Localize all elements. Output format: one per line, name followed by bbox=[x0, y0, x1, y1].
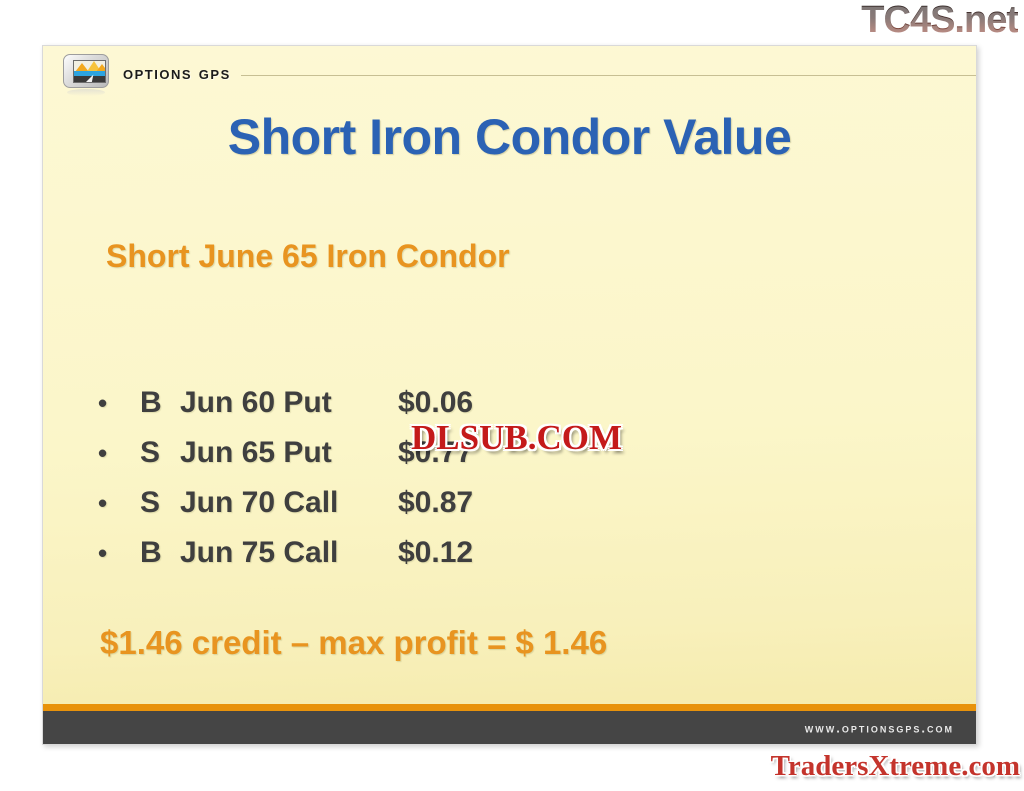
device-screen bbox=[73, 60, 106, 83]
list-item: • B Jun 75 Call $0.12 bbox=[98, 536, 473, 586]
bullet-marker: • bbox=[98, 540, 140, 566]
logo-reflection bbox=[67, 89, 105, 96]
leg-contract: Jun 60 Put bbox=[180, 386, 398, 420]
presentation-slide: Options GPS Short Iron Condor Value Shor… bbox=[42, 45, 977, 745]
tc4s-watermark: TC4S.net bbox=[861, 0, 1018, 42]
tradersxtreme-watermark: TradersXtreme.com bbox=[771, 750, 1020, 783]
leg-price: $0.06 bbox=[398, 386, 473, 420]
leg-contract: Jun 70 Call bbox=[180, 486, 398, 520]
dlsub-watermark: DLSUB.COM bbox=[411, 418, 622, 458]
leg-price: $0.87 bbox=[398, 486, 473, 520]
brand-wordmark: Options GPS bbox=[123, 63, 231, 85]
slide-header: Options GPS bbox=[43, 46, 976, 101]
credit-summary: $1.46 credit – max profit = $ 1.46 bbox=[100, 624, 607, 662]
leg-side: B bbox=[140, 386, 180, 420]
gps-device-icon bbox=[61, 53, 111, 95]
bullet-marker: • bbox=[98, 390, 140, 416]
leg-contract: Jun 75 Call bbox=[180, 536, 398, 570]
leg-price: $0.12 bbox=[398, 536, 473, 570]
footer-accent-stripe bbox=[43, 704, 976, 711]
subhead: Short June 65 Iron Condor bbox=[106, 238, 510, 275]
leg-list: • B Jun 60 Put $0.06 • S Jun 65 Put $0.7… bbox=[98, 386, 473, 586]
footer-website: www.OptionsGPS.com bbox=[805, 720, 954, 735]
page-title: Short Iron Condor Value bbox=[43, 108, 976, 166]
leg-contract: Jun 65 Put bbox=[180, 436, 398, 470]
device-body bbox=[63, 54, 109, 88]
leg-side: S bbox=[140, 486, 180, 520]
bullet-marker: • bbox=[98, 440, 140, 466]
slide-footer: www.OptionsGPS.com bbox=[43, 711, 976, 744]
list-item: • S Jun 70 Call $0.87 bbox=[98, 486, 473, 536]
leg-side: B bbox=[140, 536, 180, 570]
bullet-marker: • bbox=[98, 490, 140, 516]
leg-side: S bbox=[140, 436, 180, 470]
header-divider bbox=[241, 75, 976, 76]
